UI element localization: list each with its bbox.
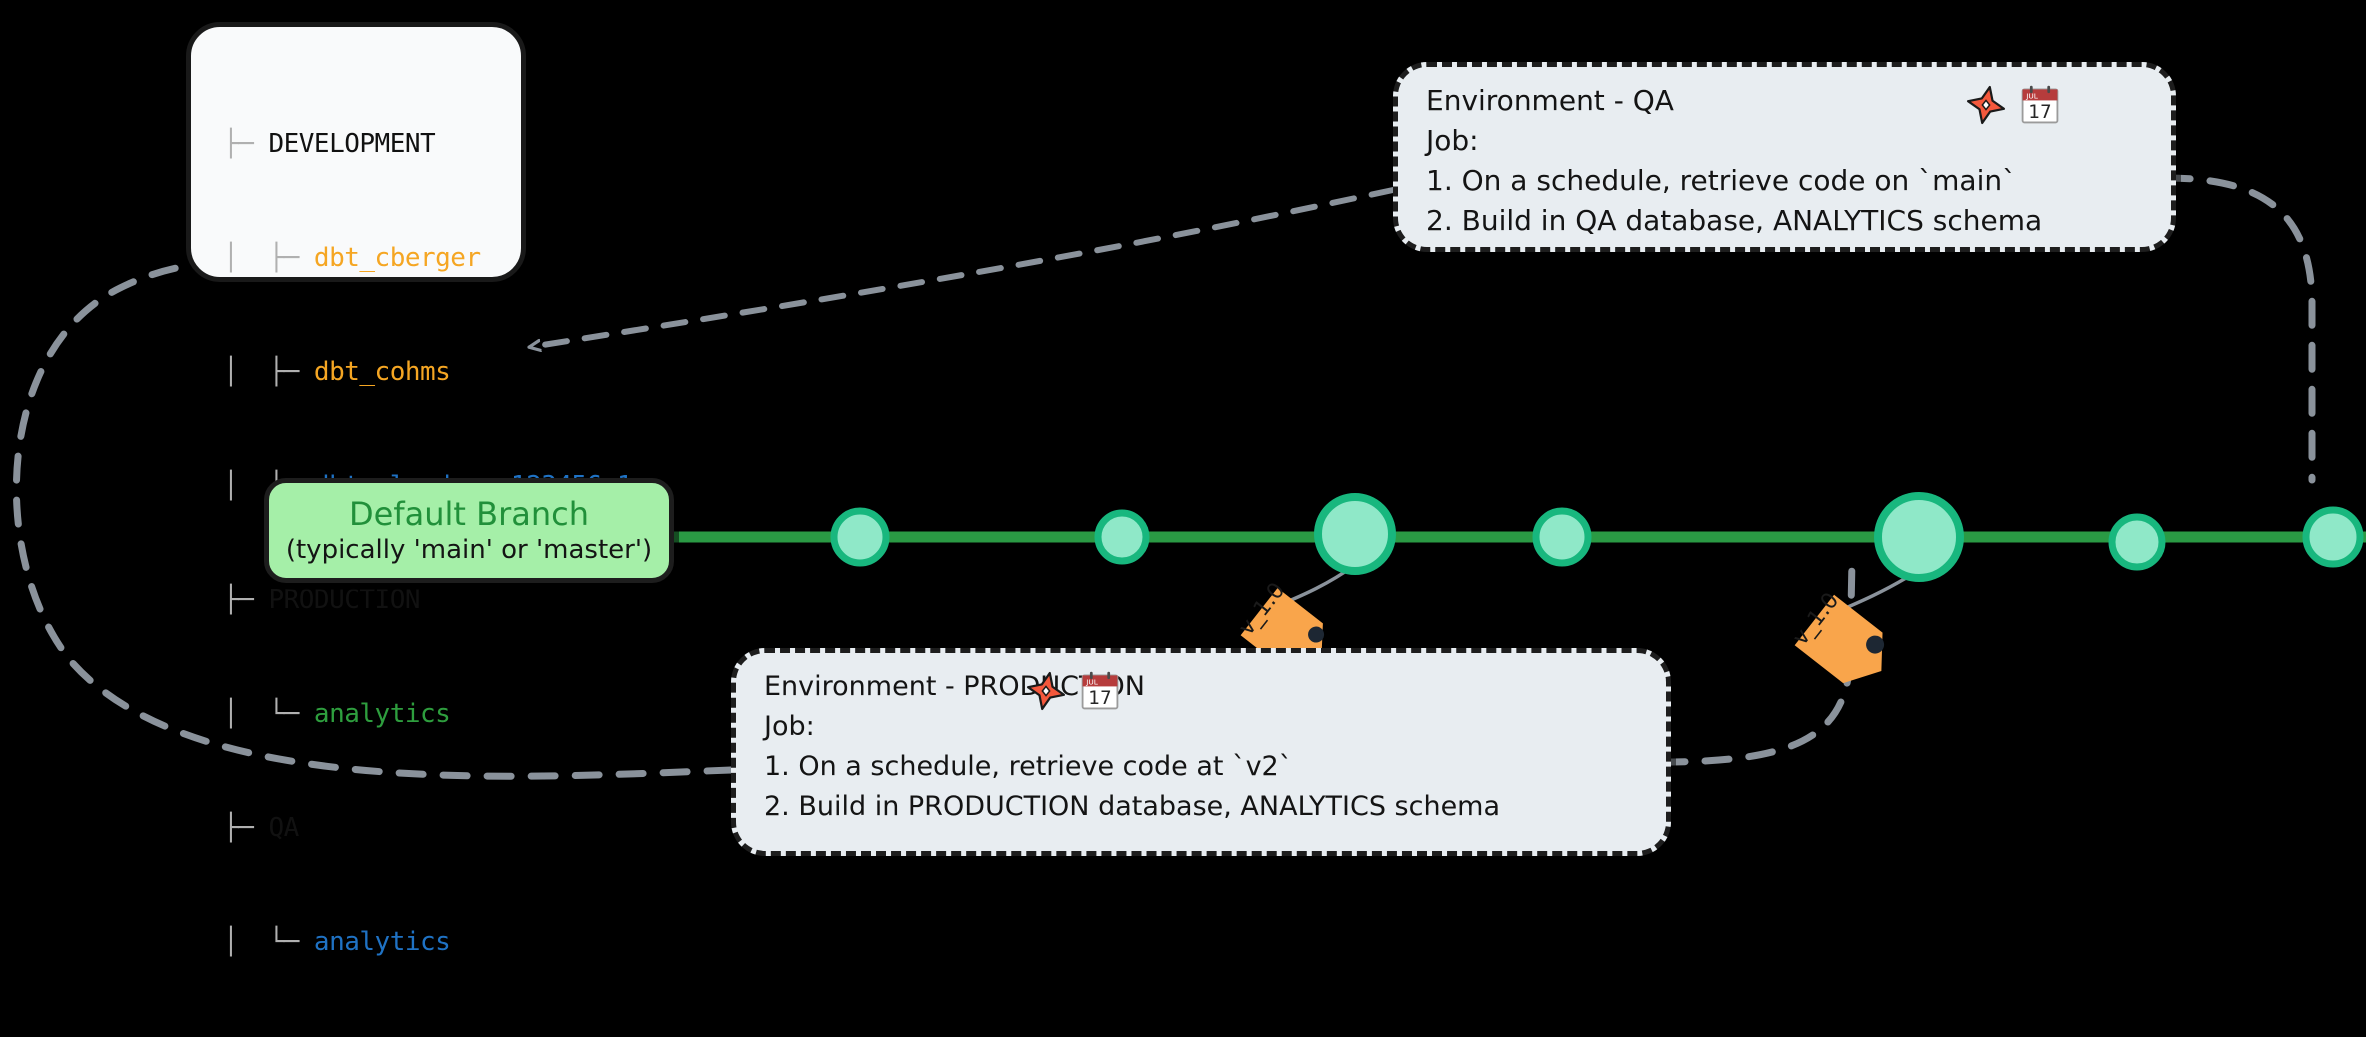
commit-node[interactable]	[1878, 496, 1960, 578]
diagram-canvas: v_1.0 v_1.0 ├─ DEVELOPMENT │ ├─ dbt_cber…	[0, 0, 2366, 888]
tree-row-production[interactable]: ├─ PRODUCTION	[223, 581, 632, 619]
tree-branch-glyph: ├─	[223, 129, 268, 159]
tree-row-label: analytics	[314, 927, 450, 957]
ninja-star-icon	[1964, 83, 2008, 127]
environments-tree-panel: ├─ DEVELOPMENT │ ├─ dbt_cberger │ ├─ dbt…	[186, 22, 526, 282]
tree-row-label: analytics	[314, 699, 450, 729]
env-qa-step-1: 1. On a schedule, retrieve code on `main…	[1426, 161, 2151, 201]
calendar-month-label: JUL	[2025, 92, 2039, 101]
env-prod-icon-group: JUL 17	[1024, 669, 1122, 713]
commit-node[interactable]	[2306, 510, 2360, 564]
tree-branch-glyph: ├─	[223, 585, 268, 615]
commit-node[interactable]	[1536, 511, 1588, 563]
default-branch-title: Default Branch	[349, 495, 589, 533]
commit-node[interactable]	[1098, 513, 1146, 561]
env-prod-body: Environment - PRODUCTION Job: 1. On a sc…	[764, 667, 1646, 827]
tree-row-label: dbt_cberger	[314, 243, 481, 273]
tree-row-label: QA	[268, 813, 298, 843]
env-qa-step-2: 2. Build in QA database, ANALYTICS schem…	[1426, 201, 2151, 241]
tree-row-label: PRODUCTION	[268, 585, 420, 615]
commit-node[interactable]	[834, 511, 886, 563]
env-prod-step-1: 1. On a schedule, retrieve code at `v2`	[764, 747, 1646, 787]
calendar-month-label: JUL	[1085, 678, 1099, 687]
tree-row-label: DEVELOPMENT	[268, 129, 435, 159]
tree-row-dbt-cohms[interactable]: │ ├─ dbt_cohms	[223, 353, 632, 391]
tree-row-label: dbt_cohms	[314, 357, 450, 387]
env-qa-job-label: Job:	[1426, 121, 2151, 161]
environment-card-production: JUL 17 Environment - PRODUCTION Job: 1. …	[731, 648, 1671, 856]
calendar-day-label: 17	[2028, 102, 2051, 123]
env-prod-title: Environment - PRODUCTION	[764, 667, 1646, 707]
tag-shape-icon	[1780, 584, 1910, 714]
calendar-icon: JUL 17	[2018, 83, 2062, 127]
tree-row-dbt-cberger[interactable]: │ ├─ dbt_cberger	[223, 239, 632, 277]
tree-branch-glyph: │ ├─	[223, 243, 314, 273]
tree-branch-glyph: │ ├─	[223, 357, 314, 387]
env-qa-icon-group: JUL 17	[1964, 83, 2062, 127]
ninja-star-icon	[1024, 669, 1068, 713]
commit-node[interactable]	[2112, 517, 2162, 567]
default-branch-subtitle: (typically 'main' or 'master')	[286, 533, 652, 567]
tree-row-qa-analytics[interactable]: │ └─ analytics	[223, 923, 632, 961]
tree-row-production-analytics[interactable]: │ └─ analytics	[223, 695, 632, 733]
env-prod-job-label: Job:	[764, 707, 1646, 747]
tree-row-development[interactable]: ├─ DEVELOPMENT	[223, 125, 632, 163]
tree-branch-glyph: │ └─	[223, 927, 314, 957]
tree-branch-glyph: ├─	[223, 813, 268, 843]
env-prod-step-2: 2. Build in PRODUCTION database, ANALYTI…	[764, 787, 1646, 827]
commit-node[interactable]	[1318, 497, 1392, 571]
version-tag-right[interactable]: v_1.0	[1780, 584, 1910, 718]
default-branch-pill: Default Branch (typically 'main' or 'mas…	[264, 478, 674, 583]
calendar-icon: JUL 17	[1078, 669, 1122, 713]
environment-card-qa: JUL 17 Environment - QA Job: 1. On a sch…	[1393, 62, 2176, 252]
tree-row-qa[interactable]: ├─ QA	[223, 809, 632, 847]
calendar-day-label: 17	[1088, 688, 1111, 709]
tree-branch-glyph: │ └─	[223, 699, 314, 729]
